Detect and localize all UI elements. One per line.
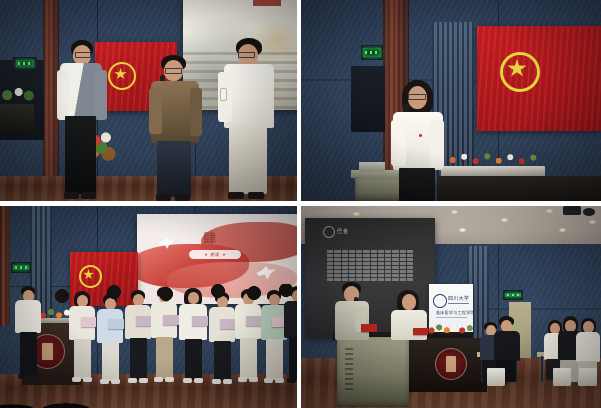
plaque-star-icon	[205, 253, 208, 256]
student-row	[10, 284, 297, 384]
shoe-right	[81, 192, 96, 199]
exit-sign-panel	[16, 60, 35, 67]
recitation-card	[192, 316, 208, 326]
exit-sign-glyph	[365, 51, 378, 55]
exit-sign-panel	[505, 293, 520, 298]
shoe-right	[175, 194, 190, 201]
recitation-card	[108, 319, 124, 329]
jacket	[494, 331, 520, 361]
photo-panel-top-left: Three students performing a skit in fron…	[0, 0, 297, 201]
youth-league-flag: Communist Youth League flag	[477, 26, 601, 131]
shoe-left	[287, 378, 296, 383]
coat	[391, 310, 427, 340]
arm-right	[95, 70, 107, 120]
shoe-left	[156, 194, 171, 201]
cue-card	[361, 324, 377, 332]
banner-subtitle: 临床医学与工程学院	[436, 310, 475, 316]
list-item-student	[208, 292, 236, 387]
recitation-card	[163, 315, 179, 325]
flag-name: Communist Youth League flag	[70, 252, 71, 253]
foreground-audience	[0, 392, 110, 408]
person-host-female	[389, 290, 429, 340]
arm-left	[391, 120, 406, 166]
trousers	[185, 339, 202, 380]
exit-sign-glyph	[15, 266, 27, 269]
downlight-icon	[459, 228, 466, 232]
skirt	[399, 168, 435, 201]
trousers	[214, 341, 231, 381]
shoe-right	[249, 377, 258, 382]
top	[15, 300, 41, 333]
plastic-stool	[579, 368, 597, 386]
trousers	[156, 337, 173, 379]
person-student-left	[55, 40, 107, 201]
plaque-star-icon	[223, 253, 226, 256]
glasses-icon	[165, 68, 182, 74]
trousers	[102, 342, 119, 381]
shoe-left	[264, 378, 273, 383]
shoe-left	[100, 379, 109, 384]
lapel-badge	[419, 134, 422, 137]
shoe-right	[111, 379, 120, 384]
downlight-icon	[559, 228, 566, 232]
downlight-icon	[451, 210, 458, 214]
slide-heading: 肆	[203, 228, 216, 247]
trousers	[240, 338, 257, 379]
exit-sign-glyph	[18, 62, 33, 65]
head	[402, 294, 416, 310]
photo-panel-top-right: A woman in a white blouse speaking into …	[301, 0, 601, 201]
list-item-student	[14, 286, 42, 384]
shoe-left	[128, 378, 137, 383]
shoe-left	[183, 378, 192, 383]
downlight-icon	[589, 220, 596, 224]
shoe-left	[238, 377, 247, 382]
glasses-icon	[408, 94, 426, 100]
trousers	[157, 141, 191, 197]
slide-title: 巴金	[337, 228, 349, 235]
school-emblem	[435, 348, 467, 380]
shoe-right	[248, 192, 264, 199]
flag-name: Communist Youth League flag	[477, 26, 478, 27]
person-student-center	[148, 55, 202, 201]
arm-right	[430, 120, 444, 168]
plant-stand	[0, 104, 34, 132]
slide-logo-icon	[323, 226, 335, 238]
stage-table	[437, 176, 601, 201]
plastic-stool	[553, 368, 571, 386]
trousers	[266, 339, 283, 380]
list-item-student	[68, 291, 96, 387]
projector-lens-icon	[583, 208, 595, 216]
banner-rule	[448, 303, 469, 304]
photo-collage: Campus recitation and speech event photo…	[0, 0, 601, 408]
shoe-right	[139, 378, 148, 383]
trousers	[229, 126, 267, 194]
top	[576, 332, 600, 362]
shoe-right	[165, 377, 174, 382]
arm-left	[149, 88, 162, 134]
wood-column	[0, 206, 10, 326]
trousers	[20, 332, 37, 376]
slide-poem-text	[327, 250, 413, 281]
banner-logo-icon	[433, 294, 447, 308]
trousers	[289, 337, 297, 380]
banner-rule	[436, 317, 467, 318]
downlight-icon	[353, 212, 360, 216]
slide-title-plaque: 朗诵	[189, 250, 241, 259]
shoe-left	[18, 374, 27, 379]
shoe-right	[194, 378, 203, 383]
exit-sign: EXIT	[503, 290, 523, 300]
lectern-laptop	[359, 162, 385, 172]
microphone-icon	[220, 88, 227, 101]
list-item-student	[96, 294, 124, 387]
exit-sign: EXIT	[13, 57, 37, 70]
exit-sign-panel	[363, 48, 380, 56]
lapel-badge-label: red lapel pin	[389, 80, 390, 81]
banner-title: 四川大学	[448, 295, 469, 302]
glasses-icon	[75, 52, 91, 58]
decor-plant	[0, 82, 36, 104]
shoe-left	[212, 379, 221, 384]
screen-red-band	[253, 0, 282, 6]
exit-sign-panel	[13, 265, 28, 271]
banner-style: white roll-up banner	[429, 284, 430, 285]
shoe-left	[154, 377, 163, 382]
top	[284, 301, 297, 338]
cue-card	[413, 328, 428, 335]
lectern-grille	[345, 348, 353, 392]
exit-sign: EXIT	[361, 45, 383, 60]
list-item-student	[124, 290, 152, 387]
shoe-left	[228, 192, 244, 199]
person-host-male	[333, 282, 371, 340]
emblem-tower-icon	[446, 356, 456, 372]
wall-alcove	[351, 66, 385, 132]
projector-icon	[563, 206, 581, 215]
plastic-stool	[487, 368, 505, 386]
plaque-label: 朗诵	[211, 252, 220, 258]
exit-sign: EXIT	[11, 262, 31, 273]
shoe-left	[64, 192, 79, 199]
shoe-right	[275, 378, 284, 383]
photo-panel-bottom-right: Two hosts at a lectern with seated stude…	[301, 206, 601, 408]
downlight-icon	[501, 218, 508, 222]
shoe-right	[29, 374, 38, 379]
exit-sign-glyph	[507, 294, 519, 296]
trousers	[130, 338, 147, 380]
downlight-icon	[546, 209, 553, 213]
shoe-left	[72, 377, 81, 382]
person-speaker: red lapel pin	[389, 80, 447, 201]
arm-right	[190, 88, 202, 136]
back-row-heads	[40, 284, 297, 304]
arm-left	[57, 70, 69, 120]
shoe-right	[223, 379, 232, 384]
photo-panel-bottom-left: A large group of students standing in a …	[0, 206, 297, 408]
glasses-icon	[238, 52, 255, 58]
shoe-right	[83, 377, 92, 382]
recitation-card	[81, 317, 96, 327]
trousers	[74, 339, 91, 379]
person-student-right	[218, 38, 276, 201]
trousers	[65, 116, 96, 194]
